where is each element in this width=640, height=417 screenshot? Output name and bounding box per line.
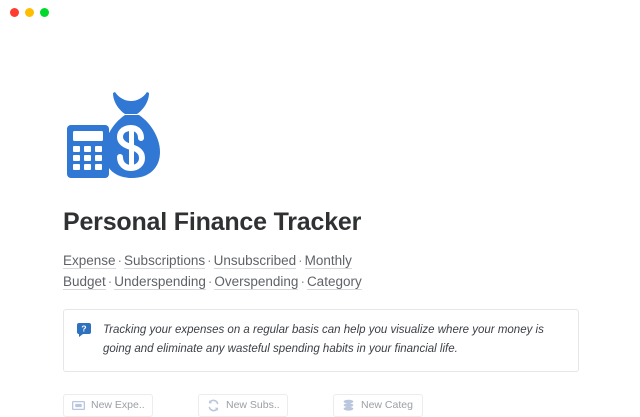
- new-subscription-label: New Subs...: [226, 399, 279, 411]
- new-category-label: New Categ...: [361, 399, 414, 411]
- stacked-layers-icon: [342, 399, 355, 412]
- maximize-window-button[interactable]: [40, 8, 49, 17]
- traffic-lights: [10, 8, 49, 17]
- new-expense-button[interactable]: New Expe...: [63, 394, 153, 417]
- link-separator: ·: [116, 253, 125, 268]
- link-overspending[interactable]: Overspending: [214, 274, 298, 290]
- close-window-button[interactable]: [10, 8, 19, 17]
- minimize-window-button[interactable]: [25, 8, 34, 17]
- link-separator: ·: [298, 274, 307, 289]
- new-subscription-button[interactable]: New Subs...: [198, 394, 288, 417]
- window-titlebar: [0, 0, 640, 30]
- question-mark-icon: ?: [76, 322, 92, 338]
- link-separator: ·: [296, 253, 305, 268]
- link-separator: ·: [205, 253, 214, 268]
- sync-arrows-icon: [207, 399, 220, 412]
- banknote-icon: [72, 399, 85, 412]
- svg-text:?: ?: [81, 323, 86, 333]
- callout-text: Tracking your expenses on a regular basi…: [103, 321, 564, 359]
- page-body: Personal Finance Tracker Expense·Subscri…: [0, 30, 640, 400]
- link-expense[interactable]: Expense: [63, 253, 116, 269]
- link-underspending[interactable]: Underspending: [114, 274, 206, 290]
- info-callout: ? Tracking your expenses on a regular ba…: [63, 309, 579, 372]
- link-category[interactable]: Category: [307, 274, 362, 290]
- link-unsubscribed[interactable]: Unsubscribed: [214, 253, 297, 269]
- page-content: Personal Finance Tracker Expense·Subscri…: [63, 90, 579, 417]
- action-button-row: New Expe... New Subs... New Categ...: [63, 394, 579, 417]
- new-category-button[interactable]: New Categ...: [333, 394, 423, 417]
- link-subscriptions[interactable]: Subscriptions: [124, 253, 205, 269]
- related-pages-links: Expense·Subscriptions·Unsubscribed·Month…: [63, 251, 563, 293]
- page-title: Personal Finance Tracker: [63, 208, 579, 237]
- new-expense-label: New Expe...: [91, 399, 144, 411]
- money-bag-calculator-icon: [63, 90, 163, 182]
